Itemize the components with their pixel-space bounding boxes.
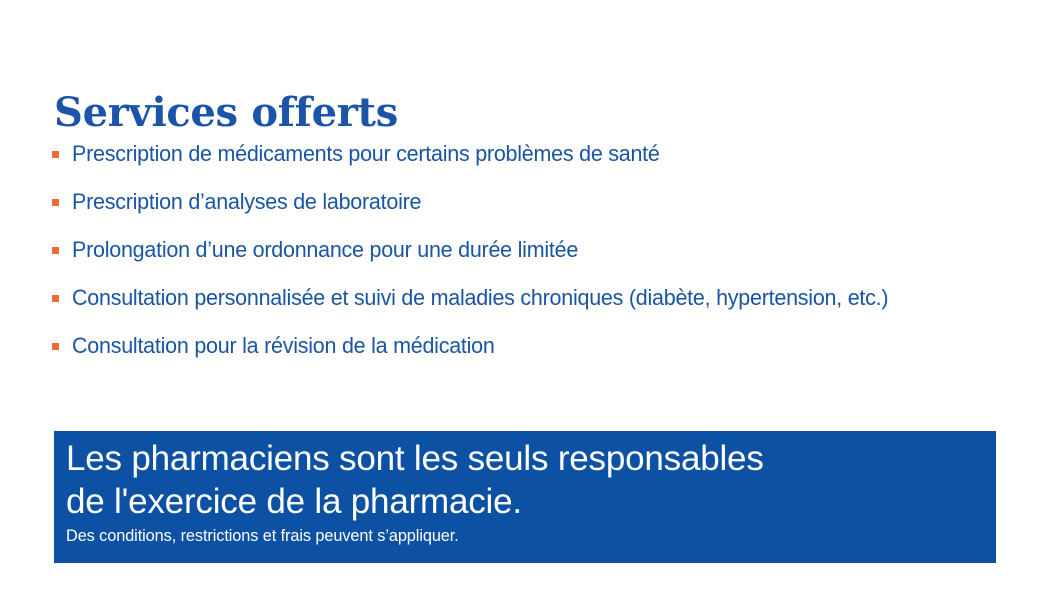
list-item-label: Prescription d’analyses de laboratoire (72, 188, 989, 216)
list-item-label: Prolongation d’une ordonnance pour une d… (72, 236, 989, 264)
highlight-callout-box: Les pharmaciens sont les seuls responsab… (54, 431, 996, 563)
list-item-label: Consultation pour la révision de la médi… (72, 332, 989, 360)
page-title: Services offerts (54, 89, 398, 137)
list-item: Prolongation d’une ordonnance pour une d… (52, 236, 1032, 284)
list-item: Consultation pour la révision de la médi… (52, 332, 1032, 380)
services-bullet-list: Prescription de médicaments pour certain… (52, 140, 1032, 380)
slide-canvas: Services offerts Prescription de médicam… (0, 0, 1050, 600)
list-item: Prescription de médicaments pour certain… (52, 140, 1032, 188)
square-bullet-icon (52, 343, 59, 350)
list-item: Prescription d’analyses de laboratoire (52, 188, 1032, 236)
highlight-disclaimer: Des conditions, restrictions et frais pe… (66, 525, 959, 547)
list-item-label: Consultation personnalisée et suivi de m… (72, 284, 989, 312)
highlight-statement: Les pharmaciens sont les seuls responsab… (66, 437, 996, 523)
square-bullet-icon (52, 295, 59, 302)
square-bullet-icon (52, 199, 59, 206)
square-bullet-icon (52, 247, 59, 254)
highlight-statement-line-1: Les pharmaciens sont les seuls responsab… (66, 437, 996, 480)
highlight-statement-line-2: de l'exercice de la pharmacie. (66, 480, 996, 523)
list-item: Consultation personnalisée et suivi de m… (52, 284, 1032, 332)
list-item-label: Prescription de médicaments pour certain… (72, 140, 989, 168)
square-bullet-icon (52, 151, 59, 158)
